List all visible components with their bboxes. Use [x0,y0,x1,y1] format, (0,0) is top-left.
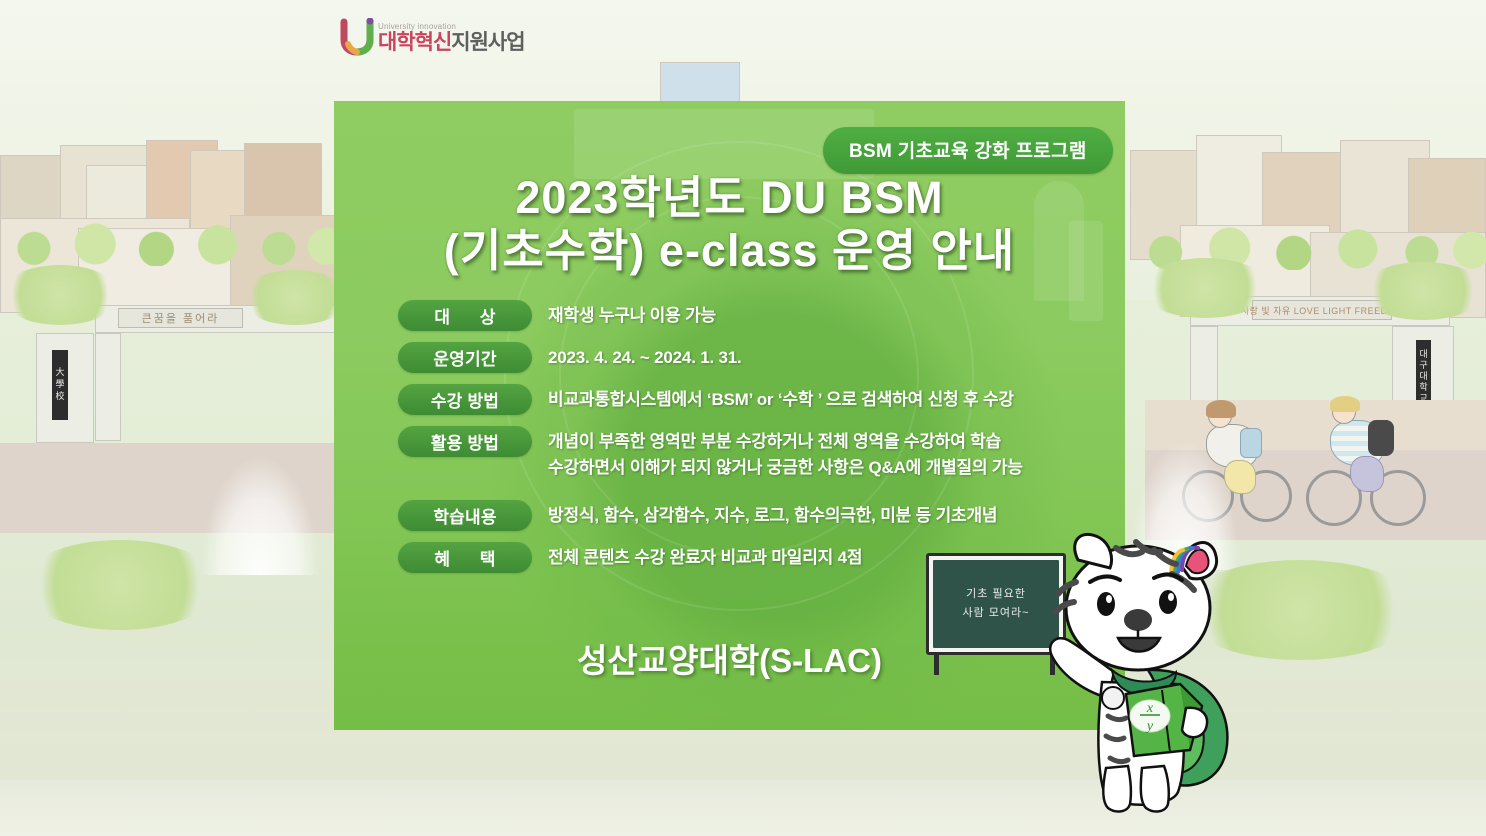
gate-pillar-text-left: 大學校 [52,350,68,420]
background-shrub [20,540,220,630]
blackboard-line-2: 사람 모여라~ [962,604,1029,623]
background-tree-row [0,222,340,266]
u-shape-gradient-logo-icon [340,18,374,56]
background-fountain [200,455,320,575]
blackboard-line-1: 기초 필요한 [966,585,1026,604]
info-row-label-pill: 운영기간 [398,342,532,373]
logo-english-text: University innovation [378,22,525,31]
info-row-label-pill: 활용 방법 [398,426,532,457]
logo-korean-part-1: 대학혁신 [378,31,451,54]
info-row-value: 재학생 누구나 이용 가능 [548,300,716,329]
info-row-value-line: 수강하면서 이해가 되지 않거나 궁금한 사항은 Q&A에 개별질의 가능 [548,455,1023,481]
info-row-value: 비교과통합시스템에서 ‘BSM’ or ‘수학 ’ 으로 검색하여 신청 후 수… [548,384,1014,413]
info-row-value-line: 재학생 누구나 이용 가능 [548,303,716,329]
svg-text:y: y [1145,719,1154,734]
poster-canvas: 큰꿈을 품어라 大學校 사랑 빛 자유 LOVE LIGHT FREEDOM 대… [0,0,1486,836]
info-row-value: 방정식, 함수, 삼각함수, 지수, 로그, 함수의극한, 미분 등 기초개념 [548,500,997,529]
poster-title-line-2: (기초수학) e-class 운영 안내 [334,224,1125,277]
cyclist-backpack [1240,428,1262,458]
gate-sign-left: 큰꿈을 품어라 [118,308,243,328]
cyclist-hair [1206,400,1236,418]
logo-korean-part-2: 지원사업 [451,31,524,54]
program-logo: University innovation 대학혁신지원사업 [340,18,525,56]
cyclist-legs [1350,456,1384,492]
info-row-label-pill: 학습내용 [398,500,532,531]
blackboard-leg [934,653,939,675]
svg-text:x: x [1146,701,1154,716]
cyclist-figure [1300,398,1440,538]
info-row: 수강 방법비교과통합시스템에서 ‘BSM’ or ‘수학 ’ 으로 검색하여 신… [398,384,1098,415]
info-row-value-line: 전체 콘텐츠 수강 완료자 비교과 마일리지 4점 [548,545,862,571]
background-shrub [1360,262,1486,320]
poster-title-line-1: 2023학년도 DU BSM [334,171,1125,224]
info-row: 대 상재학생 누구나 이용 가능 [398,300,1098,331]
background-shrub [1140,258,1270,318]
logo-korean-text: 대학혁신지원사업 [378,32,525,53]
info-row: 운영기간2023. 4. 24. ~ 2024. 1. 31. [398,342,1098,373]
tiger-illustration: x y [1030,520,1280,820]
poster-info-table: 대 상재학생 누구나 이용 가능운영기간2023. 4. 24. ~ 2024.… [398,300,1098,584]
logo-wordmark: University innovation 대학혁신지원사업 [378,22,525,53]
info-row-label-pill: 혜 택 [398,542,532,573]
poster-title: 2023학년도 DU BSM (기초수학) e-class 운영 안내 [334,171,1125,277]
info-row-value-line: 방정식, 함수, 삼각함수, 지수, 로그, 함수의극한, 미분 등 기초개념 [548,503,997,529]
program-badge: BSM 기초교육 강화 프로그램 [823,127,1113,174]
logo-svg [340,18,374,56]
info-row-value-line: 비교과통합시스템에서 ‘BSM’ or ‘수학 ’ 으로 검색하여 신청 후 수… [548,387,1014,413]
cyclist-backpack [1368,420,1394,456]
info-row: 학습내용방정식, 함수, 삼각함수, 지수, 로그, 함수의극한, 미분 등 기… [398,500,1098,531]
info-row-label-pill: 수강 방법 [398,384,532,415]
info-row-value-line: 개념이 부족한 영역만 부분 수강하거나 전체 영역을 수강하여 학습 [548,429,1023,455]
background-shrub [0,265,120,325]
info-row-value: 전체 콘텐츠 수강 완료자 비교과 마일리지 4점 [548,542,862,571]
info-row-label-pill: 대 상 [398,300,532,331]
info-row: 활용 방법개념이 부족한 영역만 부분 수강하거나 전체 영역을 수강하여 학습… [398,426,1098,482]
cyclist-hair [1330,396,1360,412]
info-row-value: 개념이 부족한 영역만 부분 수강하거나 전체 영역을 수강하여 학습수강하면서… [548,426,1023,482]
white-tiger-mascot: x y [1030,520,1280,820]
info-row-value-line: 2023. 4. 24. ~ 2024. 1. 31. [548,345,742,371]
campus-gate-post-left [95,333,121,441]
info-row-value: 2023. 4. 24. ~ 2024. 1. 31. [548,342,742,371]
